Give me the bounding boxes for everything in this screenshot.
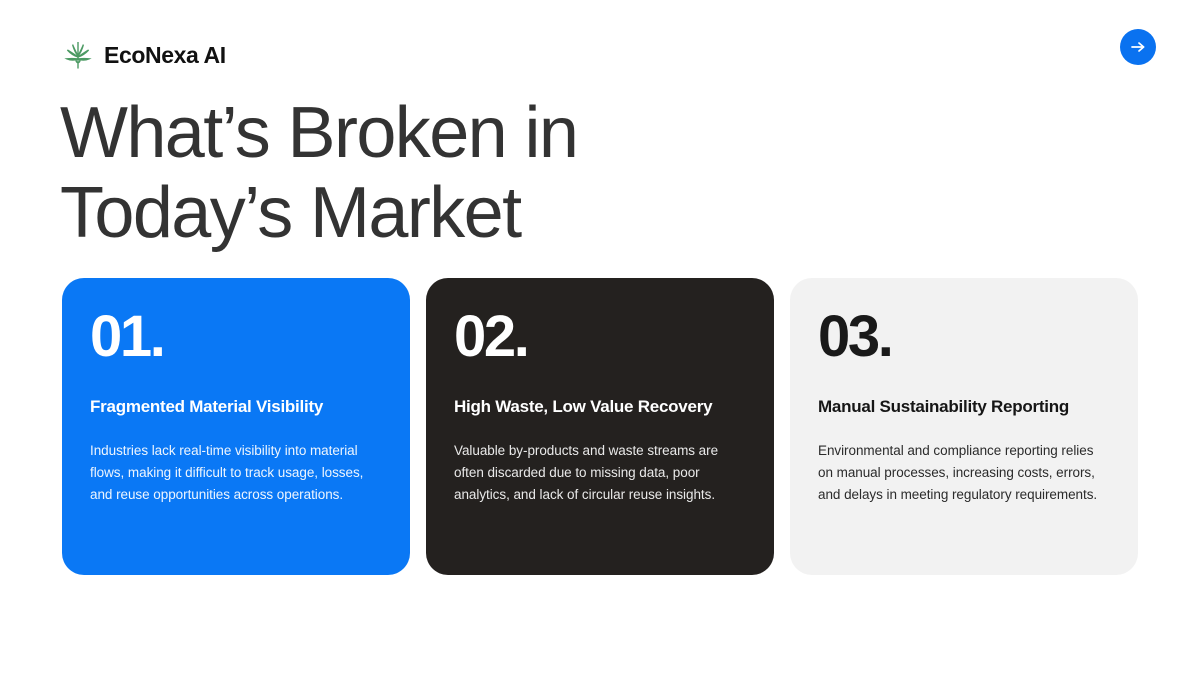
card-number: 02. [454,306,746,368]
card-title: High Waste, Low Value Recovery [454,392,746,422]
brand-name: EcoNexa AI [104,44,226,67]
slide-root: EcoNexa AI What’s Broken in Today’s Mark… [0,0,1200,675]
card-body: Valuable by-products and waste streams a… [454,440,746,506]
card-body: Industries lack real-time visibility int… [90,440,382,506]
card-number: 03. [818,306,1110,368]
problem-card-list: 01. Fragmented Material Visibility Indus… [62,278,1138,575]
page-title-line-2: Today’s Market [60,173,780,253]
brand-lockup: EcoNexa AI [62,38,226,72]
problem-card-02[interactable]: 02. High Waste, Low Value Recovery Valua… [426,278,774,575]
problem-card-03[interactable]: 03. Manual Sustainability Reporting Envi… [790,278,1138,575]
card-body: Environmental and compliance reporting r… [818,440,1110,506]
card-number: 01. [90,306,382,368]
page-title-line-1: What’s Broken in [60,93,780,173]
problem-card-01[interactable]: 01. Fragmented Material Visibility Indus… [62,278,410,575]
card-title: Fragmented Material Visibility [90,392,382,422]
card-title: Manual Sustainability Reporting [818,392,1110,422]
arrow-right-icon [1129,38,1147,56]
leaf-icon [62,39,94,71]
page-title: What’s Broken in Today’s Market [60,93,780,253]
next-button[interactable] [1120,29,1156,65]
